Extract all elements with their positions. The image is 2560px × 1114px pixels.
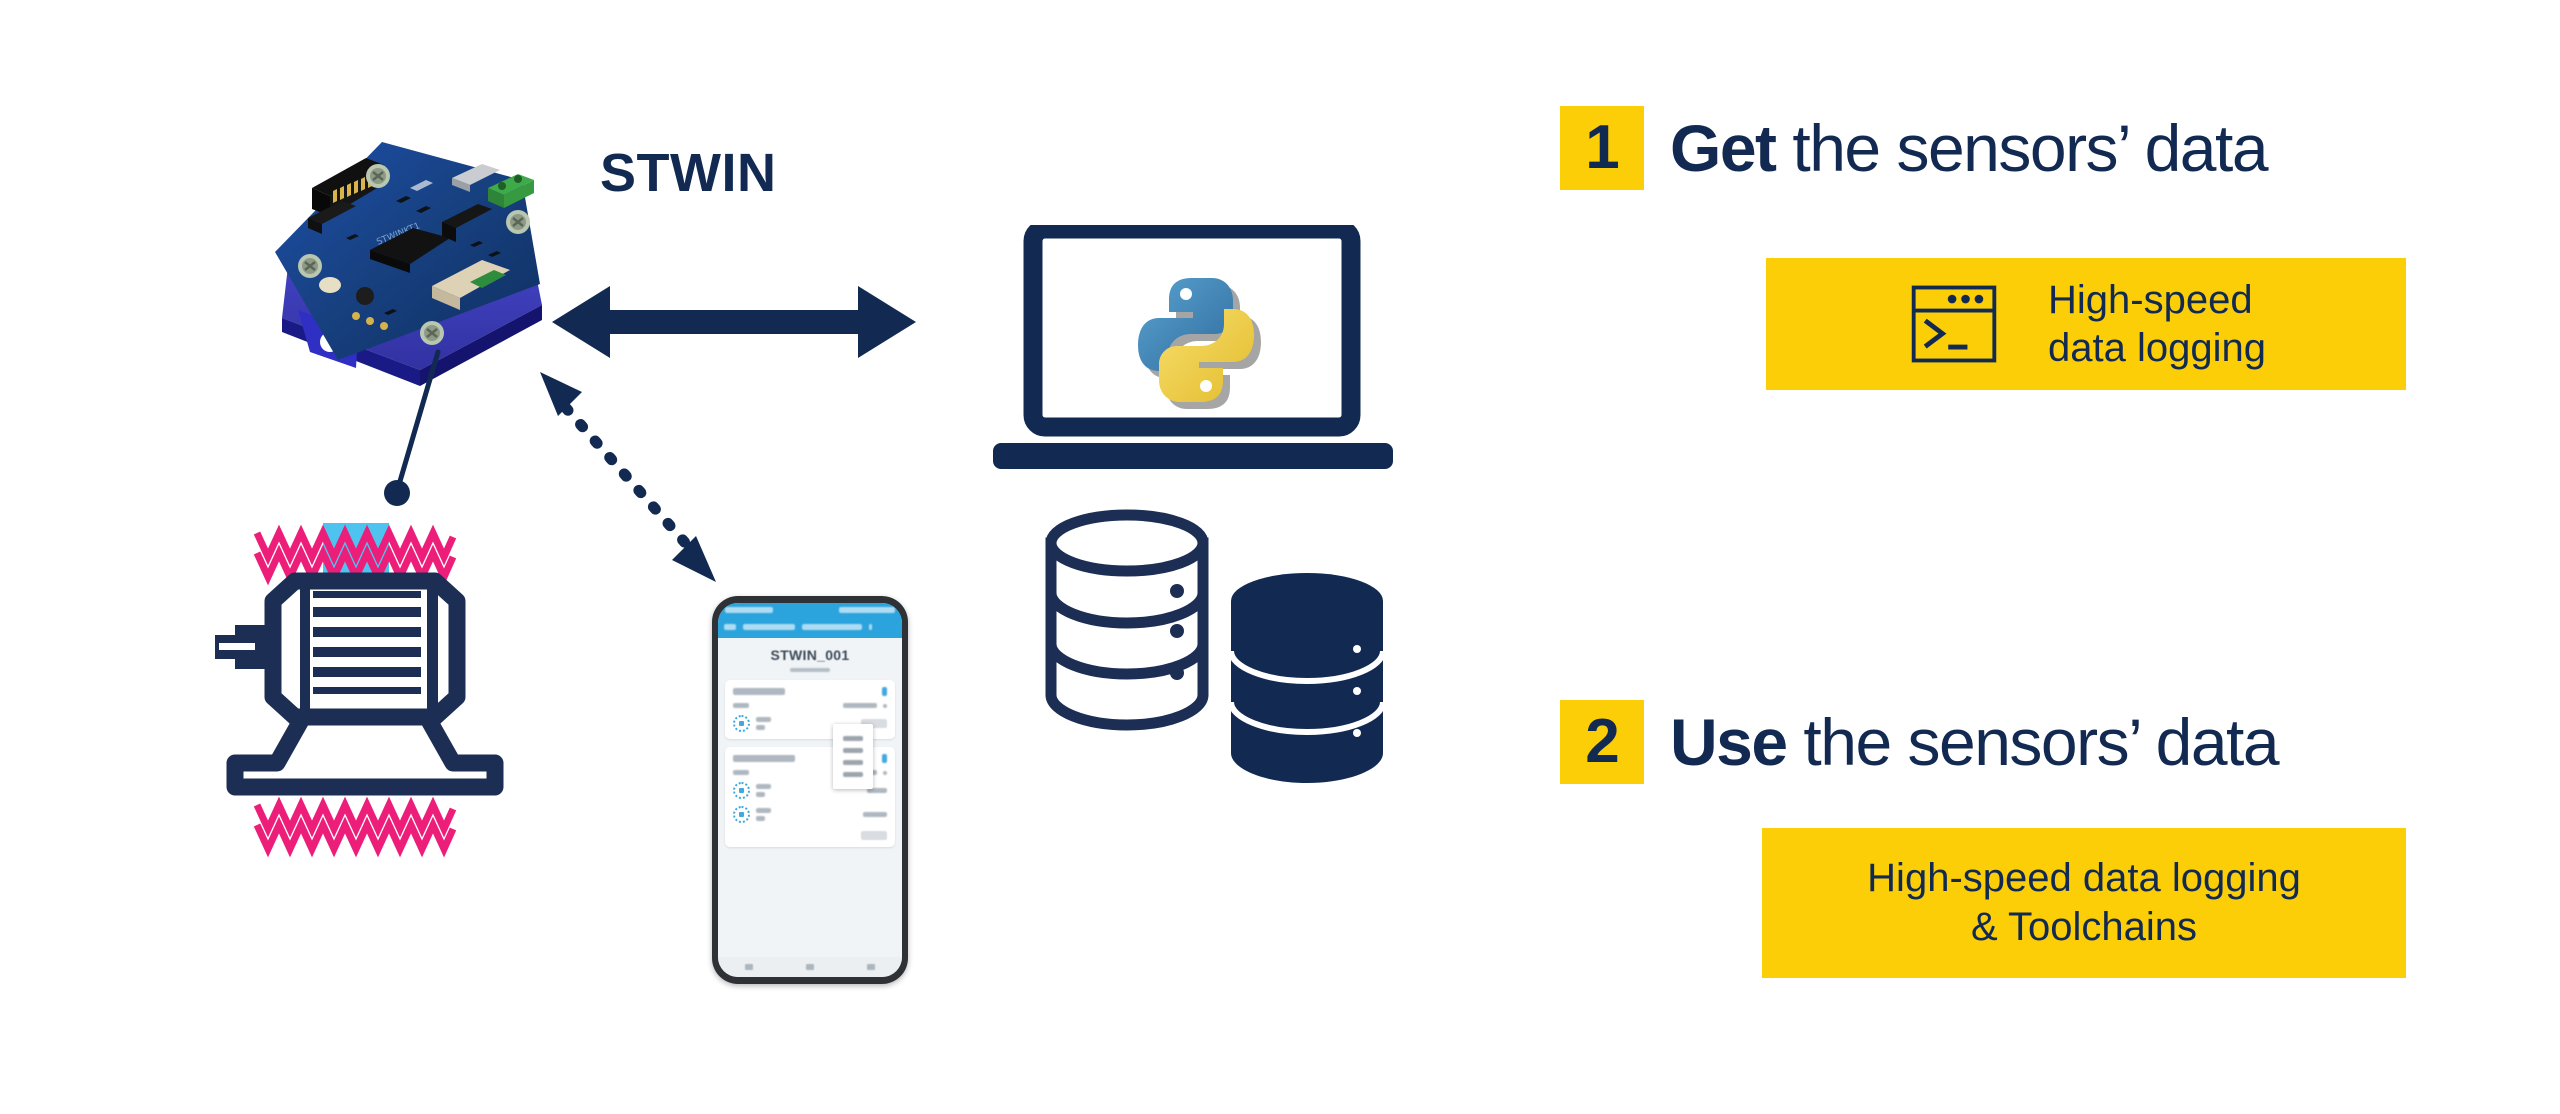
- step-2-title-rest: the sensors’ data: [1787, 705, 2279, 779]
- step-2-feature-text: High-speed data logging & Toolchains: [1867, 854, 2301, 952]
- gear-icon[interactable]: [733, 715, 750, 732]
- sensor-card[interactable]: [725, 680, 895, 739]
- phone-nav-bar[interactable]: [718, 957, 902, 977]
- phone-status-bar: [718, 603, 902, 616]
- param-name: [756, 808, 771, 813]
- dropdown-option[interactable]: [843, 736, 863, 741]
- step-1-feature-box: High-speed data logging: [1766, 258, 2406, 390]
- dotted-double-headed-arrow-icon: [520, 360, 780, 625]
- step-2-number: 2: [1560, 700, 1644, 784]
- step-1-title-emphasis: Get: [1670, 111, 1776, 185]
- step-2-feature-line1: High-speed data logging: [1867, 854, 2301, 903]
- step-2-heading: 2 Use the sensors’ data: [1560, 700, 2278, 784]
- status-right-icons: [839, 607, 895, 613]
- param-unit: [756, 816, 765, 821]
- smartphone-mockup[interactable]: STWIN_001: [712, 596, 908, 984]
- database-cylinder-icon: [1035, 505, 1415, 810]
- app-title: [743, 624, 795, 630]
- overflow-menu-icon[interactable]: [869, 624, 872, 630]
- param-value: [863, 812, 887, 817]
- step-1-heading: 1 Get the sensors’ data: [1560, 106, 2267, 190]
- terminal-window-icon: [1906, 276, 2002, 372]
- dropdown-menu[interactable]: [833, 724, 873, 789]
- dropdown-option[interactable]: [843, 772, 863, 777]
- sensor-toggle[interactable]: [882, 754, 887, 763]
- sensor-toggle[interactable]: [882, 687, 887, 696]
- gear-icon[interactable]: [733, 806, 750, 823]
- gear-icon[interactable]: [733, 782, 750, 799]
- stwin-board-label: STWIN: [600, 142, 776, 204]
- nav-home-icon[interactable]: [806, 964, 814, 970]
- step-2-title: Use the sensors’ data: [1670, 704, 2278, 780]
- menu-icon[interactable]: [724, 624, 736, 630]
- dropdown-option[interactable]: [843, 748, 863, 753]
- step-2-feature-line2: & Toolchains: [1867, 903, 2301, 952]
- step-1-title: Get the sensors’ data: [1670, 110, 2267, 186]
- step-2-feature-box: High-speed data logging & Toolchains: [1762, 828, 2406, 978]
- electric-motor-icon: [195, 505, 515, 870]
- sensor-card-title: [733, 688, 785, 695]
- dropdown-option[interactable]: [843, 760, 863, 765]
- chevron-down-icon[interactable]: [883, 771, 887, 775]
- nav-recents-icon[interactable]: [867, 964, 875, 970]
- param-name: [756, 717, 771, 722]
- sensor-field-label: [733, 770, 749, 775]
- phone-app-bar[interactable]: [718, 616, 902, 638]
- device-subtitle: [790, 668, 830, 672]
- status-left-icons: [725, 607, 773, 613]
- step-1-feature-text: High-speed data logging: [2048, 276, 2266, 372]
- step-1-number: 1: [1560, 106, 1644, 190]
- nav-back-icon[interactable]: [745, 964, 753, 970]
- device-name: STWIN_001: [718, 647, 902, 663]
- python-logo-icon: [1126, 272, 1266, 415]
- param-unit: [756, 792, 765, 797]
- sensor-field-value[interactable]: [843, 703, 877, 708]
- chevron-down-icon[interactable]: [883, 704, 887, 708]
- step-1-feature-line2: data logging: [2048, 324, 2266, 372]
- app-subtitle: [802, 624, 862, 630]
- phone-screen: STWIN_001: [718, 603, 902, 977]
- step-1-title-rest: the sensors’ data: [1776, 111, 2268, 185]
- apply-button[interactable]: [861, 831, 887, 840]
- step-2-title-emphasis: Use: [1670, 705, 1787, 779]
- step-1-feature-line1: High-speed: [2048, 276, 2266, 324]
- slide-canvas: STWINKT1: [0, 0, 2560, 1114]
- sensor-card-title: [733, 755, 795, 762]
- sensor-field-label: [733, 703, 749, 708]
- param-unit: [756, 725, 765, 730]
- param-name: [756, 784, 771, 789]
